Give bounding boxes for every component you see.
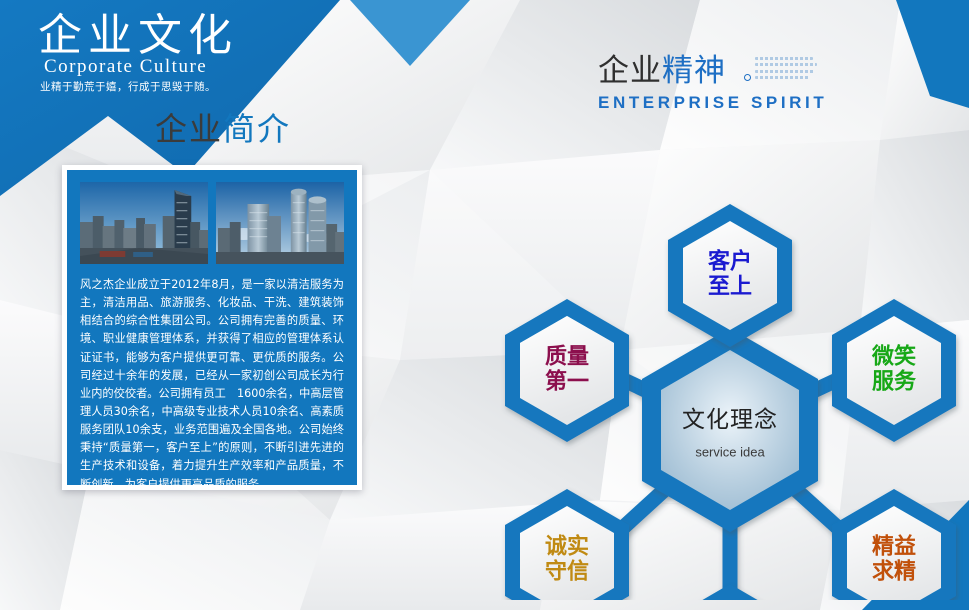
node-label-lower-left-line1: 诚实 <box>545 535 589 560</box>
left-header-subtitle: 业精于勤荒于嬉，行成于思毁于随。 <box>40 79 216 94</box>
node-label-lower-left: 诚实 守信 <box>545 535 589 584</box>
node-label-lower-left-line2: 守信 <box>545 560 589 585</box>
node-label-top-line1: 客户 <box>708 250 752 275</box>
poster-canvas: 企业文化 Corporate Culture 业精于勤荒于嬉，行成于思毁于随。 … <box>0 0 969 610</box>
right-header-title-blue: 精神 <box>662 53 726 89</box>
company-profile-card-inner: 风之杰企业成立于2012年8月，是一家以清洁服务为主，清洁用品、旅游服务、化妆品… <box>67 170 357 485</box>
node-label-upper-right-line1: 微笑 <box>872 345 916 370</box>
cityscape-photo-right <box>216 182 344 264</box>
node-label-top-line2: 至上 <box>708 275 752 300</box>
right-header-title: 企业精神 <box>598 56 726 87</box>
decorative-text-lines <box>755 57 817 90</box>
page-title-dark: 企业 <box>155 110 223 148</box>
page-title-blue: 简介 <box>223 110 291 148</box>
node-label-upper-left: 质量 第一 <box>545 345 589 394</box>
left-header-title-en: Corporate Culture <box>44 56 207 78</box>
decorative-line-4 <box>755 76 810 79</box>
right-header-title-en: ENTERPRISE SPIRIT <box>598 93 827 113</box>
node-label-upper-right-line2: 服务 <box>872 370 916 395</box>
photo-row <box>80 182 344 264</box>
culture-hexagon-diagram: 文化理念 service idea 客户 至上 微笑 服务 精益 求精 勇于 创… <box>490 120 969 600</box>
right-header-title-dark: 企业 <box>598 53 662 89</box>
left-header-title-cn: 企业文化 <box>38 14 238 58</box>
node-hexagon-bottom[interactable] <box>668 584 792 600</box>
company-profile-card: 风之杰企业成立于2012年8月，是一家以清洁服务为主，清洁用品、旅游服务、化妆品… <box>62 165 362 490</box>
decorative-line-1 <box>755 57 813 60</box>
node-label-lower-right-line1: 精益 <box>872 535 916 560</box>
page-title: 企业简介 <box>155 113 291 145</box>
decorative-line-2 <box>755 63 817 66</box>
node-label-lower-right: 精益 求精 <box>872 535 916 584</box>
cityscape-photo-left-art <box>80 182 208 264</box>
center-label-en: service idea <box>695 445 764 460</box>
decorative-line-3 <box>755 70 815 73</box>
node-label-lower-right-line2: 求精 <box>872 560 916 585</box>
cityscape-photo-left <box>80 182 208 264</box>
cityscape-photo-right-art <box>216 182 344 264</box>
registered-mark-icon <box>744 74 751 81</box>
node-label-upper-left-line2: 第一 <box>545 370 589 395</box>
node-label-upper-left-line1: 质量 <box>545 345 589 370</box>
node-label-upper-right: 微笑 服务 <box>872 345 916 394</box>
center-label-cn: 文化理念 <box>682 400 778 434</box>
company-profile-text: 风之杰企业成立于2012年8月，是一家以清洁服务为主，清洁用品、旅游服务、化妆品… <box>80 276 344 494</box>
node-label-top: 客户 至上 <box>708 250 752 299</box>
